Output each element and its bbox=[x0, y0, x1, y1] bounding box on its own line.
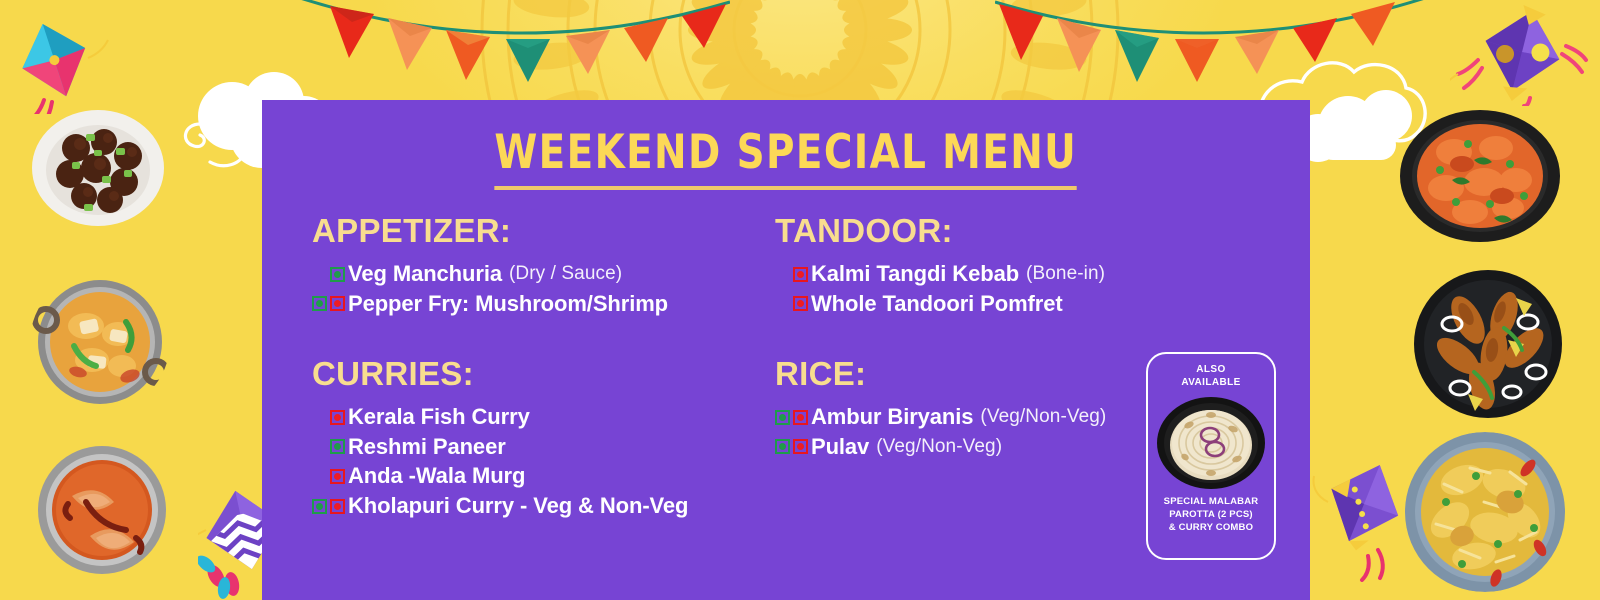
also-available-card: ALSO AVAILABLE bbox=[1146, 352, 1276, 560]
menu-item-name: Kholapuri Curry - Veg & Non-Veg bbox=[348, 492, 688, 521]
menu-item: Whole Tandoori Pomfret bbox=[793, 290, 1105, 319]
kite-decoration-top-right bbox=[1450, 2, 1590, 106]
veg-icon bbox=[775, 410, 790, 425]
also-available-caption: SPECIAL MALABAR PAROTTA (2 PCS) & CURRY … bbox=[1154, 496, 1268, 534]
veg-icon bbox=[330, 439, 345, 454]
diet-marks bbox=[330, 410, 345, 425]
menu-title-container: WEEKEND SPECIAL MENU bbox=[262, 128, 1310, 190]
nonveg-icon bbox=[330, 296, 345, 311]
menu-item: Kerala Fish Curry bbox=[330, 403, 688, 432]
diet-marks bbox=[330, 469, 345, 484]
diet-marks bbox=[775, 439, 808, 454]
bunting-flags-right bbox=[995, 0, 1425, 82]
menu-item-note: (Veg/Non-Veg) bbox=[980, 405, 1106, 430]
nonveg-icon bbox=[793, 410, 808, 425]
veg-icon bbox=[312, 296, 327, 311]
nonveg-icon bbox=[793, 296, 808, 311]
page-title: WEEKEND SPECIAL MENU bbox=[495, 128, 1078, 190]
menu-item-name: Whole Tandoori Pomfret bbox=[811, 290, 1063, 319]
dish-photo-tandoori-chicken bbox=[1408, 268, 1568, 420]
diet-marks bbox=[793, 296, 808, 311]
diet-marks bbox=[312, 296, 345, 311]
diet-marks bbox=[312, 499, 345, 514]
dish-photo-biryani bbox=[1400, 432, 1570, 592]
menu-item-note: (Bone-in) bbox=[1026, 262, 1105, 287]
section-rice: RICE: Ambur Biryanis (Veg/Non-Veg) Pulav… bbox=[775, 355, 1106, 462]
dish-photo-veg-manchuria bbox=[28, 104, 168, 228]
nonveg-icon bbox=[793, 267, 808, 282]
also-available-title: ALSO AVAILABLE bbox=[1154, 364, 1268, 389]
weekend-special-menu-banner: WEEKEND SPECIAL MENU APPETIZER: Veg Manc… bbox=[0, 0, 1600, 600]
section-appetizer: APPETIZER: Veg Manchuria (Dry / Sauce) P… bbox=[312, 212, 668, 319]
section-tandoor: TANDOOR: Kalmi Tangdi Kebab (Bone-in) Wh… bbox=[775, 212, 1105, 319]
menu-item: Veg Manchuria (Dry / Sauce) bbox=[330, 260, 668, 289]
menu-item-note: (Dry / Sauce) bbox=[509, 262, 622, 287]
menu-item-name: Kerala Fish Curry bbox=[348, 403, 530, 432]
menu-item: Pulav (Veg/Non-Veg) bbox=[775, 433, 1106, 462]
nonveg-icon bbox=[330, 499, 345, 514]
menu-item-name: Anda -Wala Murg bbox=[348, 462, 525, 491]
bunting-flags-left bbox=[300, 0, 730, 82]
menu-item: Ambur Biryanis (Veg/Non-Veg) bbox=[775, 403, 1106, 432]
section-curries: CURRIES: Kerala Fish Curry Reshmi Paneer… bbox=[312, 355, 688, 521]
veg-icon bbox=[775, 439, 790, 454]
menu-item: Kalmi Tangdi Kebab (Bone-in) bbox=[793, 260, 1105, 289]
section-heading-tandoor: TANDOOR: bbox=[775, 212, 1105, 250]
section-heading-curries: CURRIES: bbox=[312, 355, 688, 393]
menu-item: Pepper Fry: Mushroom/Shrimp bbox=[312, 290, 668, 319]
menu-item-name: Ambur Biryanis bbox=[811, 403, 973, 432]
nonveg-icon bbox=[330, 469, 345, 484]
dish-photo-paneer-curry bbox=[30, 272, 170, 412]
veg-icon bbox=[312, 499, 327, 514]
section-heading-appetizer: APPETIZER: bbox=[312, 212, 668, 250]
menu-item-name: Kalmi Tangdi Kebab bbox=[811, 260, 1019, 289]
dish-photo-gravy-curry bbox=[1398, 108, 1563, 244]
diet-marks bbox=[330, 439, 345, 454]
menu-item-name: Pulav bbox=[811, 433, 869, 462]
menu-item-name: Reshmi Paneer bbox=[348, 433, 506, 462]
diet-marks bbox=[793, 267, 808, 282]
dish-photo-fish-curry bbox=[32, 440, 172, 580]
kite-decoration-top-left bbox=[0, 14, 110, 114]
menu-item: Kholapuri Curry - Veg & Non-Veg bbox=[312, 492, 688, 521]
menu-item-note: (Veg/Non-Veg) bbox=[876, 435, 1002, 460]
diet-marks bbox=[330, 267, 345, 282]
menu-item: Anda -Wala Murg bbox=[330, 462, 688, 491]
section-heading-rice: RICE: bbox=[775, 355, 1106, 393]
nonveg-icon bbox=[330, 410, 345, 425]
veg-icon bbox=[330, 267, 345, 282]
menu-item-name: Pepper Fry: Mushroom/Shrimp bbox=[348, 290, 668, 319]
diet-marks bbox=[775, 410, 808, 425]
menu-item-name: Veg Manchuria bbox=[348, 260, 502, 289]
parotta-photo bbox=[1155, 393, 1267, 491]
nonveg-icon bbox=[793, 439, 808, 454]
menu-item: Reshmi Paneer bbox=[330, 433, 688, 462]
